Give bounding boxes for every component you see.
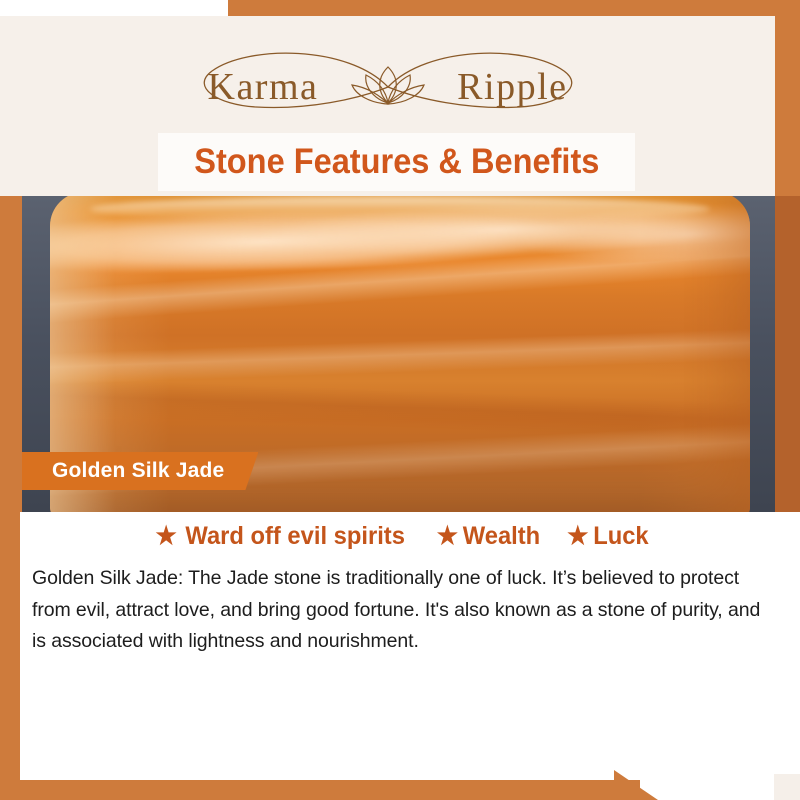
benefit-item-1: ★ Ward off evil spirits bbox=[156, 522, 405, 551]
star-icon: ★ bbox=[437, 524, 458, 549]
stone-sheen-right bbox=[640, 196, 750, 512]
brand-logo: Karma Ripple bbox=[0, 32, 775, 142]
frame-top-right-horizontal bbox=[228, 0, 800, 16]
benefit-item-2: ★ Wealth bbox=[437, 522, 540, 551]
infographic-page: Karma Ripple Stone Features & Benefits G… bbox=[0, 0, 800, 800]
stone-gloss bbox=[90, 196, 710, 222]
content-section: ★ Ward off evil spirits ★ Wealth ★ Luck … bbox=[0, 512, 800, 780]
brand-name-left: Karma bbox=[208, 65, 319, 109]
frame-bottom-right-nick bbox=[774, 774, 800, 800]
stone-description: Golden Silk Jade: The Jade stone is trad… bbox=[32, 563, 768, 658]
frame-left-band bbox=[0, 196, 22, 512]
frame-top-right-vertical bbox=[775, 0, 800, 210]
star-icon: ★ bbox=[567, 524, 588, 549]
product-photo: Golden Silk Jade bbox=[22, 196, 775, 512]
section-title-banner: Stone Features & Benefits bbox=[158, 133, 635, 191]
benefits-list: ★ Ward off evil spirits ★ Wealth ★ Luck bbox=[0, 512, 800, 551]
frame-bottom-left-horizontal bbox=[0, 780, 640, 800]
stone-name-text: Golden Silk Jade bbox=[52, 459, 224, 483]
benefit-label: Luck bbox=[593, 522, 648, 551]
stone-name-label: Golden Silk Jade bbox=[22, 452, 258, 490]
star-icon: ★ bbox=[156, 524, 177, 549]
frame-right-band bbox=[774, 196, 800, 512]
frame-bottom-left-vertical bbox=[0, 500, 20, 800]
benefit-label: Wealth bbox=[463, 522, 540, 551]
benefit-item-3: ★ Luck bbox=[567, 522, 648, 551]
brand-name-right: Ripple bbox=[457, 65, 567, 109]
benefit-label: Ward off evil spirits bbox=[186, 522, 406, 551]
page-title: Stone Features & Benefits bbox=[194, 142, 599, 182]
